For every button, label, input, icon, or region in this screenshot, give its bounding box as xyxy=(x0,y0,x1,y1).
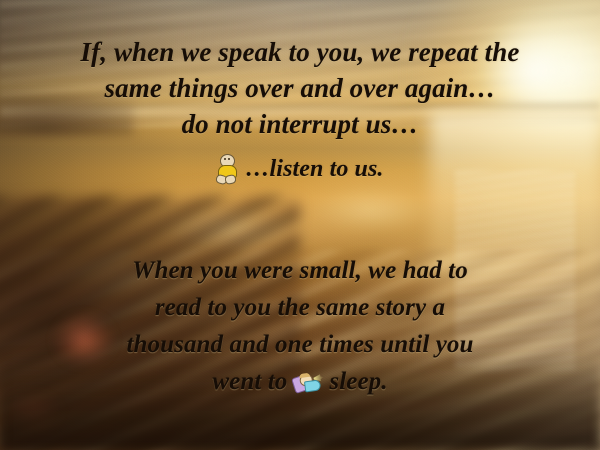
quote-line-8-suffix: sleep. xyxy=(329,363,387,400)
quote-line-4-text: …listen to us. xyxy=(245,152,383,186)
quote-line-2: same things over and over again… xyxy=(0,70,600,106)
stanza-two: When you were small, we had to read to y… xyxy=(0,252,600,400)
quote-line-1: If, when we speak to you, we repeat the xyxy=(0,34,600,70)
quote-text-overlay: If, when we speak to you, we repeat the … xyxy=(0,0,600,450)
quote-line-5: When you were small, we had to xyxy=(0,252,600,289)
quote-line-8: went to sleep. xyxy=(212,363,387,400)
quote-line-6: read to you the same story a xyxy=(0,289,600,326)
baby-sitting-icon xyxy=(216,154,238,184)
quote-line-8-prefix: went to xyxy=(212,363,287,400)
quote-line-3: do not interrupt us… xyxy=(0,106,600,142)
quote-line-4: …listen to us. xyxy=(216,152,383,186)
quote-image: If, when we speak to you, we repeat the … xyxy=(0,0,600,450)
sleeping-in-bed-icon xyxy=(292,370,324,394)
quote-line-7: thousand and one times until you xyxy=(0,326,600,363)
stanza-one: If, when we speak to you, we repeat the … xyxy=(0,34,600,189)
